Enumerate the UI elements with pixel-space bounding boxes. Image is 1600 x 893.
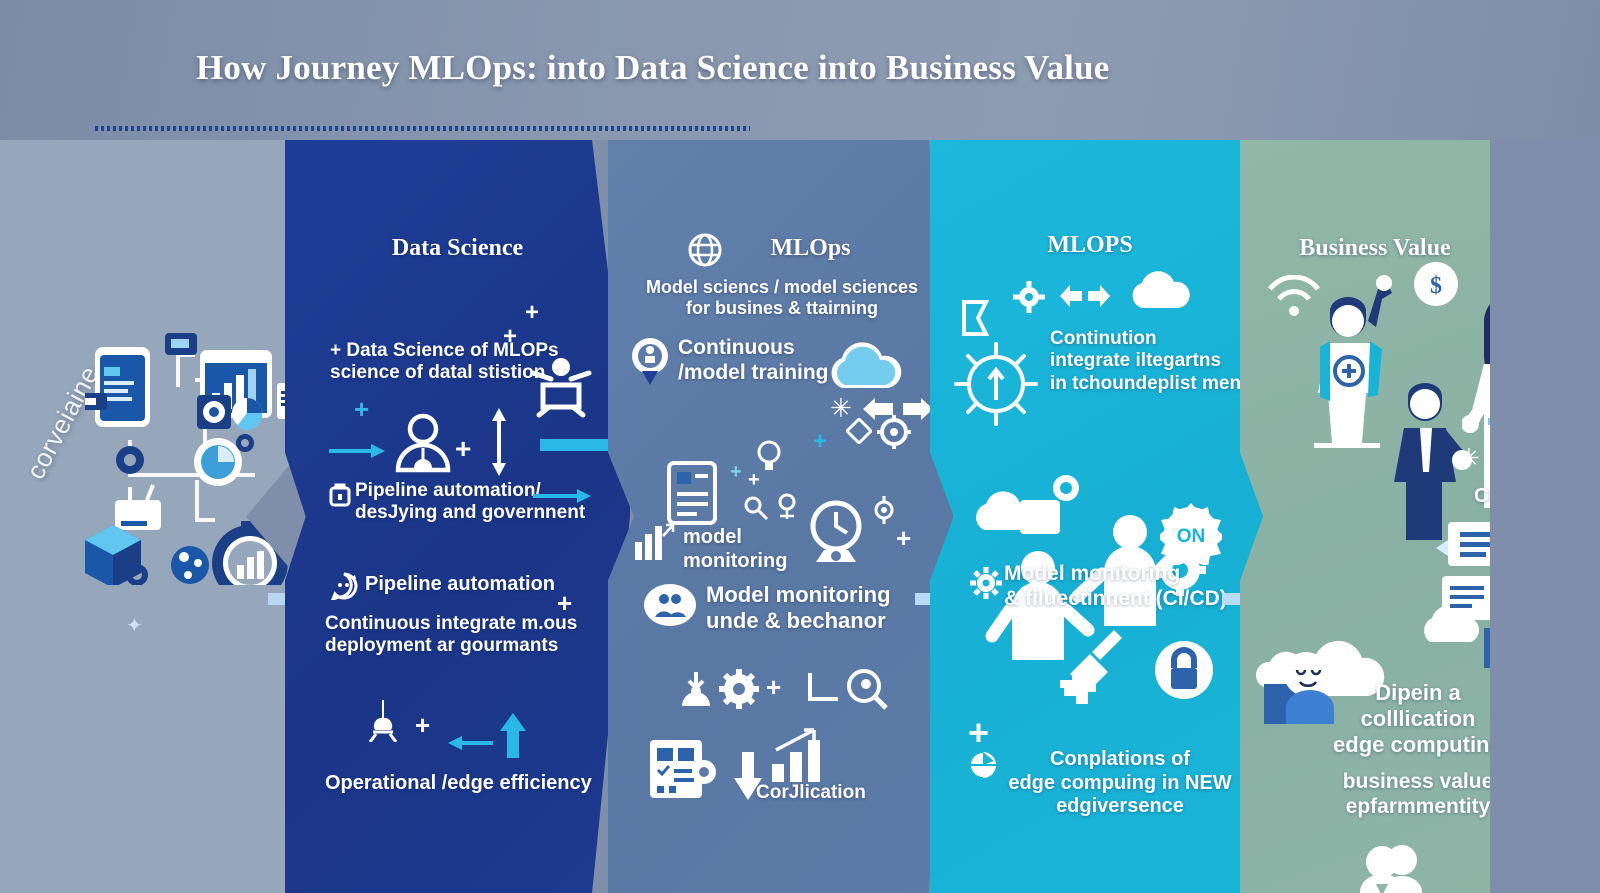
launch-icon [368,698,398,742]
people-icon [1352,840,1432,893]
ds-text-block-4: Continuous integrate m.ous deployment ar… [325,613,615,658]
panel-title-mlops2: MLOPS [930,232,1260,259]
gear-icon [1012,280,1046,314]
up-arrow-icon [500,713,526,758]
mlops2-text-block-1: Continution integrate iltegartns in tcho… [1050,328,1270,395]
header-banner: How Journey MLOps: into Data Science int… [0,0,1600,140]
plus-decor-icon: + [455,435,471,463]
small-arrow-icon [329,443,385,459]
search-icon [846,668,888,710]
panels-band: corveiaine [0,140,1600,893]
dollar-coin-icon: $ [1412,260,1460,308]
settings-small-icon [776,492,802,520]
page-title: How Journey MLOps: into Data Science int… [196,48,1110,88]
on-badge-icon: ON [1160,503,1222,565]
person-icon [390,410,456,476]
chat-gear-icon [330,572,358,600]
person-presenting-icon [529,355,593,419]
mlops-text-block-1: Model sciencs / model sciences for busin… [622,277,942,319]
panel-right-edge [1490,140,1600,893]
gear-icon [718,668,760,710]
mlops-text-block-4: Model monitoring unde & bechanor [706,582,891,634]
badge-down-icon [628,335,672,385]
panel-title-data-science: Data Science [285,235,630,262]
plus-decor-icon: + [525,301,539,325]
globe-small-icon [968,750,998,780]
form-gear-icon [648,738,718,800]
tech-icon-cluster [85,325,290,585]
bv-text-block-2: business value epfarmmentity [1318,770,1518,820]
header-divider [95,126,750,131]
bar-chart-icon [633,522,675,562]
lightbulb-icon [756,440,782,474]
cloud-icon [820,338,910,394]
mlops-text-block-5: CorJlication [756,782,866,804]
panel-data-science: Data Science + + + Data Science of MLOPs… [285,140,630,893]
ds-text-block-3: Pipeline automation [365,573,555,597]
plus-decor-icon: + [354,396,369,422]
panel-intro: corveiaine [0,140,300,893]
small-arrow-icon [533,488,591,504]
settings-small-icon [870,495,898,525]
wrench-puzzle-icon [1030,630,1130,730]
plus-decor-icon: + [766,674,781,700]
corner-path-icon [806,673,840,705]
panel-mlops: MLOps Model sciencs / model sciences for… [608,140,953,893]
lock-small-icon [329,483,351,507]
mlops-text-block-3: model monitoring [683,526,787,573]
svg-text:ON: ON [1177,526,1206,547]
svg-text:$: $ [1430,273,1442,299]
flag-icon [960,300,992,338]
mlops-text-block-2: Continuous /model training [678,336,829,386]
vertical-arrow-icon [490,408,508,476]
sparkle-icon: ✦ [126,616,143,636]
cloud-icon [1125,268,1195,312]
magnifier-small-icon [743,495,769,521]
mlops2-text-block-2: Model monitoring & filuectinnent (CI/CD) [1004,562,1254,612]
infographic-canvas: How Journey MLOps: into Data Science int… [0,0,1600,893]
gear-icon [876,414,912,450]
plus-decor-icon: + [415,712,430,738]
growth-bar-icon [768,728,834,784]
plus-decor-icon: + [730,462,742,482]
clock-stand-icon [796,498,876,570]
plus-decor-icon: + [896,525,911,551]
double-arrow-icon [1060,285,1110,307]
mlops2-text-block-3: Conplations of edge compuing in NEW edgi… [1000,748,1240,819]
panel-mlops-2: MLOPS Continution integrate iltegartns i… [930,140,1270,893]
lock-icon [1152,638,1216,702]
diamond-icon [846,418,872,444]
bv-text-block-1: Dipein a colllication edge computing [1318,680,1518,758]
asterisk-icon: ✳ [1458,445,1480,471]
plus-decor-icon: + [813,430,827,454]
users-circle-icon [643,583,697,627]
plus-decor-icon: + [968,715,989,751]
ds-text-block-5: Operational /edge efficiency [325,772,592,796]
left-arrow-icon [448,735,493,751]
compass-icon [952,340,1040,428]
gear-icon [968,565,1004,601]
checklist-doc-icon [666,460,718,526]
panel-title-mlops: MLOps [638,235,953,262]
user-download-icon [676,670,716,706]
